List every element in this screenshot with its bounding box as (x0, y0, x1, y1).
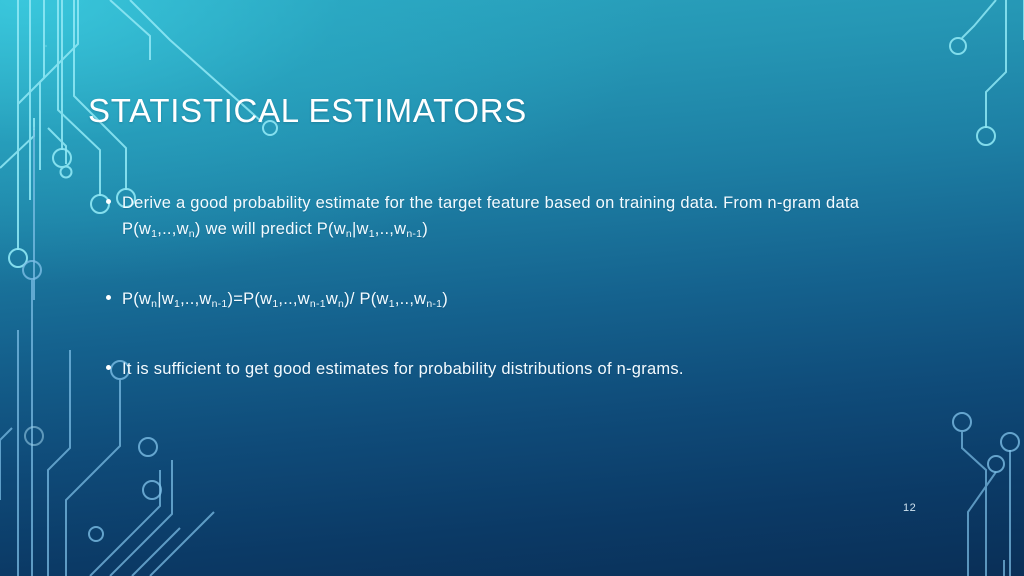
bullet-list: Derive a good probability estimate for t… (104, 190, 916, 382)
bullet-sufficient-estimates-text: It is sufficient to get good estimates f… (122, 356, 916, 382)
bullet-derive-estimate: Derive a good probability estimate for t… (104, 190, 916, 242)
subscript: n (346, 228, 352, 240)
subscript: n (338, 298, 344, 310)
subscript: n-1 (426, 298, 442, 310)
slide-canvas: STATISTICAL ESTIMATORS Derive a good pro… (0, 0, 1024, 576)
subscript: n-1 (212, 298, 228, 310)
bullet-marker-icon (106, 295, 111, 300)
bullet-derive-estimate-text: Derive a good probability estimate for t… (122, 190, 916, 242)
page-title: STATISTICAL ESTIMATORS (88, 92, 527, 130)
page-number: 12 (903, 502, 916, 514)
bullet-conditional-formula-text: P(wn|w1,..,wn-1)=P(w1,..,wn-1wn)/ P(w1,.… (122, 286, 916, 312)
subscript: n (151, 298, 157, 310)
subscript: 1 (389, 298, 395, 310)
subscript: 1 (369, 228, 375, 240)
subscript: 1 (272, 298, 278, 310)
bullet-conditional-formula: P(wn|w1,..,wn-1)=P(w1,..,wn-1wn)/ P(w1,.… (104, 286, 916, 312)
bullet-sufficient-estimates: It is sufficient to get good estimates f… (104, 356, 916, 382)
subscript: n-1 (406, 228, 422, 240)
subscript: n-1 (310, 298, 326, 310)
subscript: 1 (174, 298, 180, 310)
subscript: 1 (151, 228, 157, 240)
bullet-marker-icon (106, 199, 111, 204)
bullet-marker-icon (106, 365, 111, 370)
slide-content: STATISTICAL ESTIMATORS Derive a good pro… (0, 0, 1024, 576)
subscript: n (189, 228, 195, 240)
